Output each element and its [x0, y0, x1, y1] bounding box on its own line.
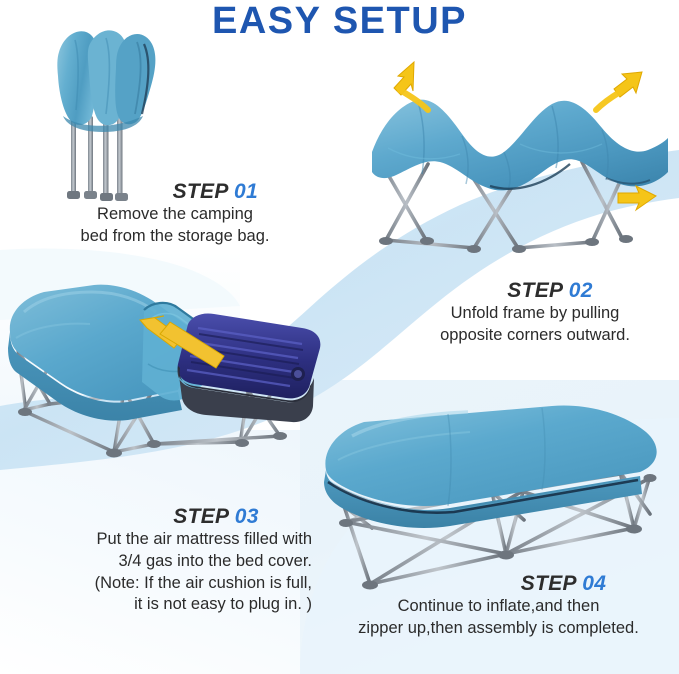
illustration-step-03-mattress-insert	[2, 272, 332, 502]
step-02-number: 02	[569, 279, 593, 302]
step-02-title-word: STEP	[507, 279, 562, 302]
step-01-caption: STEP 01 Remove the camping bed from the …	[30, 180, 320, 248]
step-01-title-word: STEP	[173, 180, 228, 203]
step-03-caption: STEP 03 Put the air mattress filled with…	[0, 505, 320, 616]
step-03-body: Put the air mattress filled with 3/4 gas…	[0, 529, 312, 616]
unfold-arrow-top-right	[596, 72, 642, 110]
unfolding-bed-cover	[372, 100, 668, 191]
step-04-number: 04	[582, 572, 606, 595]
step4-inflated-bed	[324, 406, 657, 528]
step-03-number: 03	[235, 505, 259, 528]
folded-bed-fabric	[57, 30, 155, 132]
illustration-step-02-unfolding-frame	[370, 52, 670, 252]
step-04-caption: STEP 04 Continue to inflate,and then zip…	[318, 572, 679, 640]
unfold-arrow-bottom-right	[618, 186, 656, 210]
step-02-body: Unfold frame by pulling opposite corners…	[400, 303, 670, 347]
step-02-caption: STEP 02 Unfold frame by pulling opposite…	[400, 279, 670, 347]
step-03-title-word: STEP	[173, 505, 228, 528]
illustration-step-04-assembled-bed	[302, 402, 677, 598]
step-01-body: Remove the camping bed from the storage …	[30, 204, 320, 248]
illustration-step-01-folded-bed	[45, 24, 170, 206]
step-01-title: STEP 01	[30, 180, 320, 204]
step-04-title-word: STEP	[521, 572, 576, 595]
step-01-number: 01	[234, 180, 258, 203]
infographic-page: EASY SETUP	[0, 0, 679, 674]
step3-air-mattress	[178, 313, 321, 422]
step-04-body: Continue to inflate,and then zipper up,t…	[318, 596, 679, 640]
step-04-title: STEP 04	[318, 572, 679, 596]
step-02-title: STEP 02	[400, 279, 670, 303]
step-03-title: STEP 03	[0, 505, 312, 529]
